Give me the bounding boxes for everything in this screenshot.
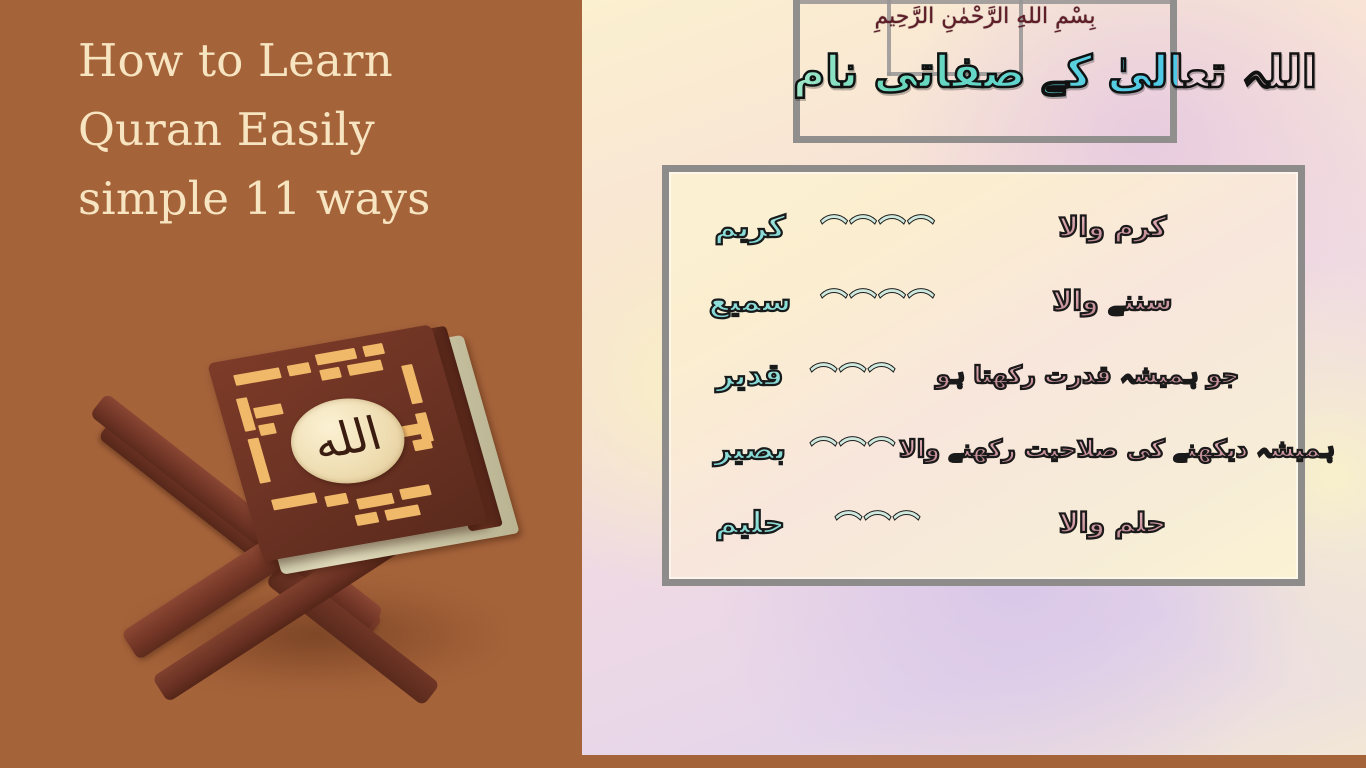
bismillah-calligraphy: بِسْمِ اللهِ الرَّحْمٰنِ الرَّحِيمِ <box>793 2 1177 32</box>
attribute-name: حلیم <box>691 506 809 541</box>
cover-deco <box>356 493 395 510</box>
cover-deco <box>347 359 384 376</box>
attribute-name: قدیر <box>691 358 809 393</box>
header-title-calligraphy: اللہ تعالیٰ کے صفاتی نام <box>793 42 1177 104</box>
cover-deco <box>233 367 282 386</box>
attribute-name: بصیر <box>691 432 809 467</box>
cover-deco <box>236 397 256 432</box>
cover-deco <box>258 423 277 436</box>
cover-deco <box>399 484 432 500</box>
title-line-2: Quran Easily <box>78 95 508 164</box>
cover-deco <box>253 403 284 418</box>
cover-deco <box>362 343 385 357</box>
attribute-meaning: سننے والا <box>949 286 1276 317</box>
attribute-name: کریم <box>691 210 809 245</box>
title-line-3: simple 11 ways <box>78 164 508 233</box>
row-separator-dashes: ⌒⌒⌒ <box>809 505 949 542</box>
cover-deco <box>355 512 380 526</box>
attribute-name: سمیع <box>691 284 809 319</box>
cover-deco <box>287 362 312 376</box>
left-brown-panel: How to Learn Quran Easily simple 11 ways <box>0 0 582 768</box>
cover-deco <box>412 438 433 452</box>
row-separator-dashes: ⌒⌒⌒⌒ <box>809 283 949 320</box>
cover-medallion: الله <box>280 390 415 492</box>
row-separator-dashes: ⌒⌒⌒ <box>809 357 899 394</box>
row-separator-dashes: ⌒⌒⌒ <box>809 431 899 468</box>
cover-deco <box>401 364 423 404</box>
table-row: بصیر⌒⌒⌒ہمیشہ دیکھنے کی صلاحیت رکھنے والا <box>691 412 1276 486</box>
cover-deco <box>247 438 271 484</box>
names-table-body: کریم⌒⌒⌒⌒کرم والاسمیع⌒⌒⌒⌒سننے والاقدیر⌒⌒⌒… <box>669 172 1298 579</box>
quran-rehal-illustration: الله <box>90 330 550 730</box>
cover-deco <box>324 493 349 507</box>
slide-root: How to Learn Quran Easily simple 11 ways <box>0 0 1366 768</box>
table-row: حلیم⌒⌒⌒حلم والا <box>691 486 1276 560</box>
bottom-accent-strip <box>582 755 1366 768</box>
right-content-panel: بِسْمِ اللهِ الرَّحْمٰنِ الرَّحِيمِ اللہ… <box>582 0 1366 768</box>
cover-deco <box>384 504 421 521</box>
table-row: سمیع⌒⌒⌒⌒سننے والا <box>691 264 1276 338</box>
page-title: How to Learn Quran Easily simple 11 ways <box>78 26 508 233</box>
cover-deco <box>271 492 318 510</box>
row-separator-dashes: ⌒⌒⌒⌒ <box>809 209 949 246</box>
attribute-meaning: حلم والا <box>949 508 1276 539</box>
names-table-frame: کریم⌒⌒⌒⌒کرم والاسمیع⌒⌒⌒⌒سننے والاقدیر⌒⌒⌒… <box>662 165 1305 586</box>
attribute-meaning: ہمیشہ دیکھنے کی صلاحیت رکھنے والا <box>899 435 1335 463</box>
attribute-meaning: جو ہمیشہ قدرت رکھتا ہو <box>899 361 1276 389</box>
table-row: قدیر⌒⌒⌒جو ہمیشہ قدرت رکھتا ہو <box>691 338 1276 412</box>
title-line-1: How to Learn <box>78 26 508 95</box>
table-row: کریم⌒⌒⌒⌒کرم والا <box>691 190 1276 264</box>
cover-deco <box>315 348 358 366</box>
allah-calligraphy: الله <box>308 410 387 466</box>
attribute-meaning: کرم والا <box>949 212 1276 243</box>
cover-deco <box>319 367 342 381</box>
